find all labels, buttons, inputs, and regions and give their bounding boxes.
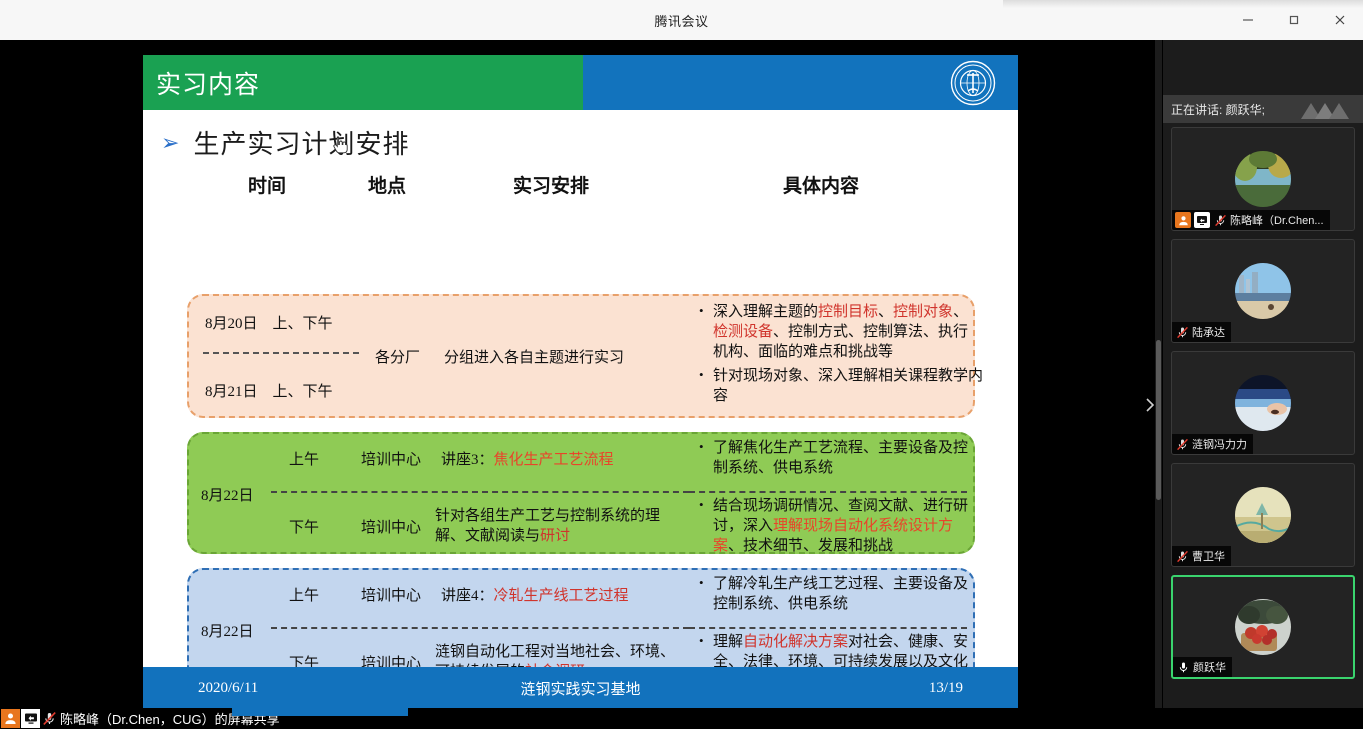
arrow-bullet-icon: ➢ [161,132,179,154]
slide-footer: 2020/6/11 涟钢实践实习基地 13/19 [143,667,1018,710]
schedule-pm-text: 针对各组生产工艺与控制系统的理解、文献阅读与研讨 [435,506,685,547]
avatar [1235,151,1291,207]
text-run: 焦化生产工艺流程 [494,452,614,468]
window-controls [1225,0,1363,40]
university-crest-icon [950,60,996,106]
column-header-details: 具体内容 [783,171,859,198]
text-run: 、 [953,304,968,320]
text-run: 深入理解主题的 [713,304,818,320]
slide-header-title: 实习内容 [156,65,260,101]
schedule-am-text: 讲座4：冷轧生产线工艺过程 [441,584,629,605]
schedule-divider-dash [271,491,689,493]
schedule-block-right: 深入理解主题的控制目标、控制对象、检测设备、控制方式、控制算法、执行机构、面临的… [689,296,973,416]
schedule-pm-label: 下午 [289,516,319,537]
avatar [1235,487,1291,543]
schedule-arrangement: 分组进入各自主题进行实习 [444,346,624,367]
window-title: 腾讯会议 [654,11,708,30]
text-run: 了解冷轧生产线工艺过程、主要设备及控制系统、供电系统 [713,576,968,612]
avatar [1235,263,1291,319]
participant-tile[interactable]: 曹卫华 [1171,463,1355,567]
text-run: 冷轧生产线工艺过程 [494,588,629,604]
avatar [1235,599,1291,655]
title-bar: 腾讯会议 [0,0,1363,40]
screen-share-icon [21,709,40,728]
mouse-cursor-pointer-icon [332,136,348,156]
schedule-date: 8月22日 [201,484,254,505]
schedule-am-label: 上午 [289,448,319,469]
text-run: 理解 [713,634,743,650]
schedule-date: 8月22日 [201,620,254,641]
host-badge-icon [1,709,20,728]
participant-name: 颜跃华 [1193,659,1226,675]
mic-on-icon [1176,660,1190,674]
participant-tile[interactable]: 涟钢冯力力 [1171,351,1355,455]
close-icon[interactable] [1317,0,1363,40]
mic-muted-icon [1175,325,1189,339]
text-run: 控制对象 [893,304,953,320]
schedule-am-label: 上午 [289,584,319,605]
mic-muted-icon [1213,213,1227,227]
detail-bullet: 了解焦化生产工艺流程、主要设备及控制系统、供电系统 [713,438,981,478]
schedule-block-left: 8月22日 上午 培训中心 讲座3：焦化生产工艺流程 下午 培训中心 针对各组生… [189,434,689,552]
schedule-am-text: 讲座3：焦化生产工艺流程 [441,448,614,469]
text-run: 讲座3： [441,452,494,468]
detail-bullet: 针对现场对象、深入理解相关课程教学内容 [713,366,983,406]
section-title: 生产实习计划安排 [193,124,409,161]
participants-scrollbar[interactable] [1155,40,1162,708]
schedule-date-line-1: 8月20日 上、下午 [205,312,333,333]
schedule-block-green: 8月22日 上午 培训中心 讲座3：焦化生产工艺流程 下午 培训中心 针对各组生… [187,432,975,554]
participant-label: 陆承达 [1172,322,1231,342]
maximize-icon[interactable] [1271,0,1317,40]
slide-page-number: 13/19 [929,680,963,697]
schedule-divider-dash [271,627,689,629]
slide-header-blue-band [583,55,1018,110]
shared-screen-stage: 实习内容 [0,40,1163,708]
schedule-block-left: 8月20日 上、下午 8月21日 上、下午 各分厂 分组进入各自主题进行实习 [189,296,689,416]
mic-muted-icon [40,709,58,728]
participant-label: 陈略峰（Dr.Chen... [1172,210,1330,230]
slide-body: ➢ 生产实习计划安排 时间 地点 实习安排 具体内容 8月20日 上、下午 8月… [143,110,1018,678]
text-run: 针对现场对象、深入理解相关课程教学内容 [713,368,983,404]
schedule-am-place: 培训中心 [361,584,421,605]
schedule-block-right: 了解焦化生产工艺流程、主要设备及控制系统、供电系统 结合现场调研情况、查阅文献、… [689,434,973,552]
participant-name: 陈略峰（Dr.Chen... [1230,212,1324,228]
participant-name: 涟钢冯力力 [1192,436,1247,452]
text-run: 、 [878,304,893,320]
mic-muted-icon [1175,549,1189,563]
text-run: 研讨 [540,528,570,544]
text-run: 检测设备 [713,324,773,340]
text-run: 、技术细节、发展和挑战 [728,538,893,554]
participant-label: 曹卫华 [1172,546,1231,566]
participant-label: 涟钢冯力力 [1172,434,1253,454]
participant-tiles: 陈略峰（Dr.Chen... [1163,127,1363,679]
schedule-divider-dash [689,491,967,493]
detail-bullet: 深入理解主题的控制目标、控制对象、检测设备、控制方式、控制算法、执行机构、面临的… [713,302,983,362]
participant-label: 颜跃华 [1173,657,1232,677]
text-run: 自动化解决方案 [743,634,848,650]
screen-share-status-bar: 陈略峰（Dr.Chen，CUG）的屏幕共享 [0,708,1363,729]
schedule-pm-place: 培训中心 [361,516,421,537]
tencent-meeting-window: 腾讯会议 实习内容 [0,0,1363,729]
column-header-schedule: 实习安排 [513,171,589,198]
schedule-am-place: 培训中心 [361,448,421,469]
slide-header: 实习内容 [143,55,1018,110]
mic-muted-icon [1175,437,1189,451]
text-run: 讲座4： [441,588,494,604]
participant-tile[interactable]: 陆承达 [1171,239,1355,343]
participant-tile[interactable]: 陈略峰（Dr.Chen... [1171,127,1355,231]
host-badge-icon [1175,212,1191,228]
slide-footer-center: 涟钢实践实习基地 [143,678,1018,699]
column-header-time: 时间 [248,171,286,198]
chevron-right-icon[interactable] [1141,385,1159,425]
text-run: 控制目标 [818,304,878,320]
schedule-block-peach: 8月20日 上、下午 8月21日 上、下午 各分厂 分组进入各自主题进行实习 深… [187,294,975,418]
participant-tile-active-speaker[interactable]: 颜跃华 [1171,575,1355,679]
presentation-slide: 实习内容 [143,55,1018,710]
column-header-place: 地点 [368,171,406,198]
text-run: 了解焦化生产工艺流程、主要设备及控制系统、供电系统 [713,440,968,476]
schedule-divider-dash [689,627,967,629]
audio-wave-icon [1297,97,1357,121]
screen-share-icon [1194,212,1210,228]
detail-bullet: 了解冷轧生产线工艺过程、主要设备及控制系统、供电系统 [713,574,981,614]
active-speaker-bar: 正在讲话: 颜跃华; [1163,95,1363,123]
detail-bullet: 结合现场调研情况、查阅文献、进行研讨，深入理解现场自动化系统设计方案、技术细节、… [713,496,981,556]
status-bar-highlight [232,708,408,716]
avatar [1235,375,1291,431]
participants-panel: 正在讲话: 颜跃华; [1163,40,1363,708]
schedule-place: 各分厂 [375,346,420,367]
participant-name: 曹卫华 [1192,548,1225,564]
schedule-date-line-2: 8月21日 上、下午 [205,380,333,401]
minimize-icon[interactable] [1225,0,1271,40]
slide-section-heading: ➢ 生产实习计划安排 [143,110,1018,161]
slide-header-green-band: 实习内容 [143,55,583,110]
schedule-column-headers: 时间 地点 实习安排 具体内容 [143,171,1018,205]
participant-name: 陆承达 [1192,324,1225,340]
active-speaker-label: 正在讲话: 颜跃华; [1171,101,1265,118]
schedule-divider-dash [203,352,359,354]
